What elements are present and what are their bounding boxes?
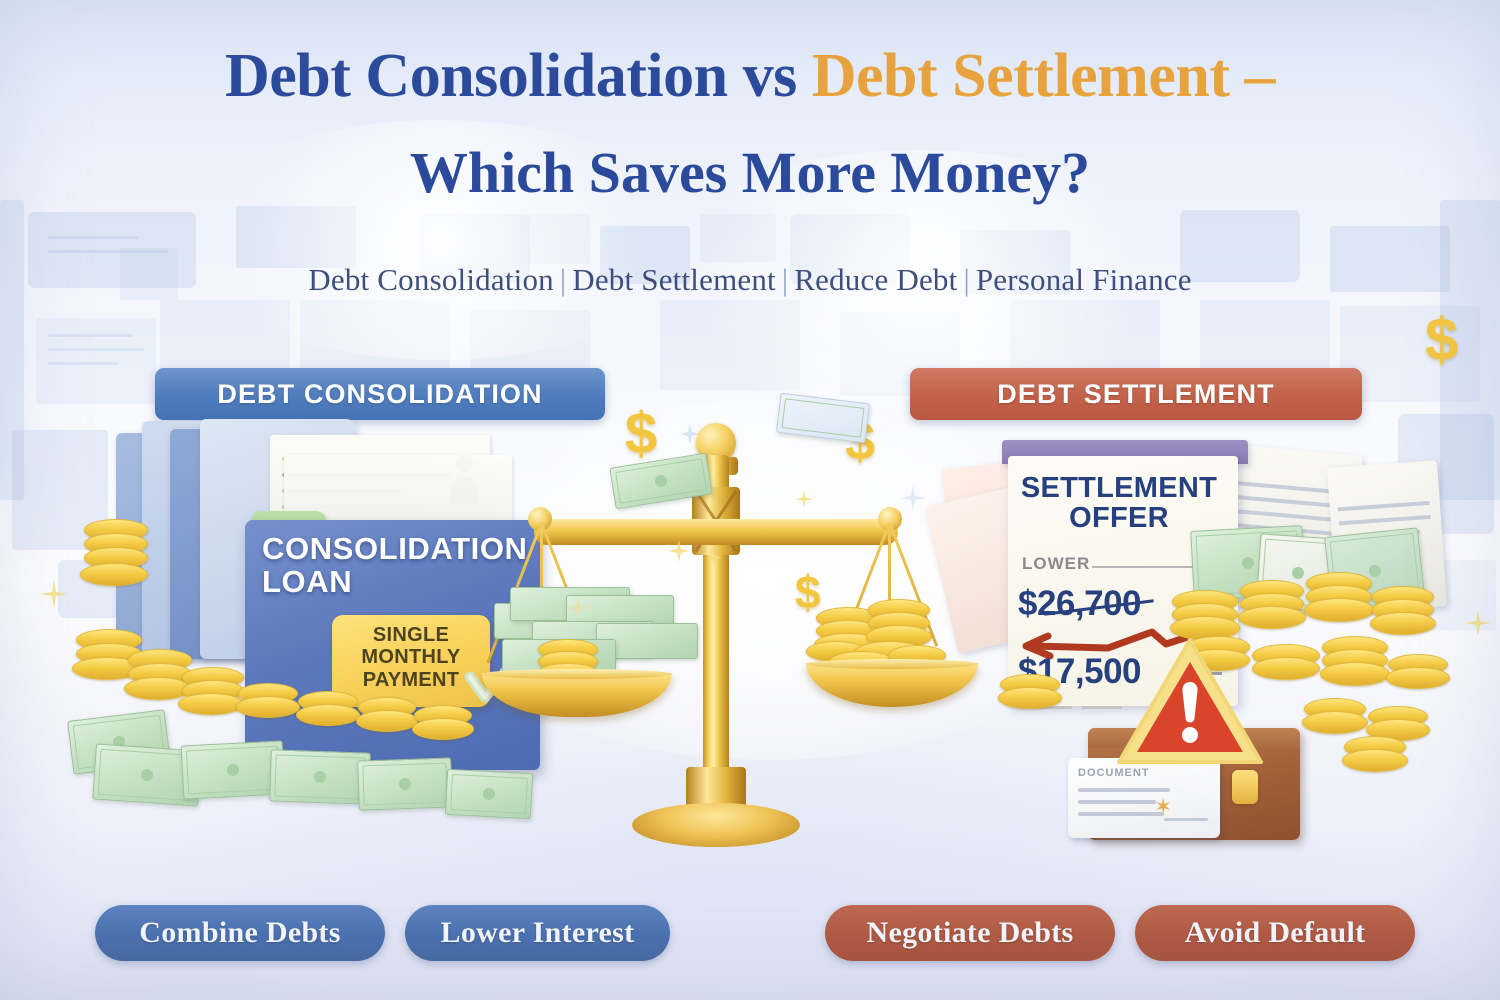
- settlement-illustration: SETTLEMENT OFFER LOWER $26,700 $17,500: [940, 440, 1440, 860]
- tag-negotiate-debts[interactable]: Negotiate Debts: [825, 905, 1115, 961]
- breadcrumb: Debt Consolidation|Debt Settlement|Reduc…: [0, 262, 1500, 298]
- sparkle-icon: [900, 485, 926, 511]
- offer-title-line2: OFFER: [1069, 502, 1169, 534]
- briefcase-document-card: DOCUMENT ✶: [1068, 758, 1220, 838]
- star-icon: ✶: [1154, 794, 1172, 820]
- tag-lower-interest[interactable]: Lower Interest: [405, 905, 670, 961]
- warning-triangle-icon: [1115, 636, 1265, 768]
- folder-title-line1: CONSOLIDATION: [262, 531, 528, 566]
- dollar-symbol-icon: $: [625, 400, 657, 467]
- banknote: [357, 757, 453, 810]
- breadcrumb-item-1: Debt Settlement: [572, 262, 776, 297]
- payment-line1: SINGLE: [373, 624, 449, 646]
- original-amount: $26,700: [1018, 584, 1141, 624]
- payment-line2: MONTHLY: [361, 646, 460, 668]
- title-segment-blue: Debt Consolidation vs: [225, 42, 812, 110]
- breadcrumb-item-0: Debt Consolidation: [308, 262, 554, 297]
- breadcrumb-separator: |: [776, 262, 794, 297]
- sparkle-icon: [40, 580, 68, 608]
- offer-title-line1: SETTLEMENT: [1021, 472, 1217, 504]
- tag-avoid-default[interactable]: Avoid Default: [1135, 905, 1415, 961]
- folder-title-line2: LOAN: [262, 564, 352, 599]
- breadcrumb-item-2: Reduce Debt: [794, 262, 957, 297]
- page-title: Debt Consolidation vs Debt Settlement – …: [0, 44, 1500, 204]
- breadcrumb-separator: |: [554, 262, 572, 297]
- dollar-symbol-icon: $: [1425, 305, 1458, 374]
- sparkle-icon: [680, 424, 700, 444]
- tag-combine-debts[interactable]: Combine Debts: [95, 905, 385, 961]
- sparkle-icon: [568, 598, 588, 618]
- sparkle-icon: [795, 490, 813, 508]
- folder-title: CONSOLIDATION LOAN: [262, 533, 552, 598]
- title-segment-gold: Debt Settlement –: [812, 42, 1275, 110]
- offer-lower-label: LOWER: [1022, 554, 1090, 574]
- dollar-symbol-icon: $: [795, 565, 821, 619]
- briefcase-card-text: DOCUMENT: [1078, 767, 1150, 779]
- sparkle-icon: [668, 540, 690, 562]
- sparkle-icon: [706, 550, 722, 566]
- breadcrumb-separator: |: [957, 262, 975, 297]
- title-line-two: Which Saves More Money?: [0, 143, 1500, 204]
- sparkle-icon: [1465, 610, 1491, 636]
- breadcrumb-item-3: Personal Finance: [976, 262, 1192, 297]
- badge-debt-settlement: DEBT SETTLEMENT: [910, 368, 1362, 420]
- payment-line3: PAYMENT: [363, 669, 460, 691]
- infographic-canvas: Debt Consolidation vs Debt Settlement – …: [0, 0, 1500, 1000]
- consolidation-illustration: CONSOLIDATION LOAN SINGLE MONTHLY PAYMEN…: [70, 415, 540, 835]
- banknote: [269, 749, 371, 804]
- briefcase-latch-icon: [1232, 770, 1258, 804]
